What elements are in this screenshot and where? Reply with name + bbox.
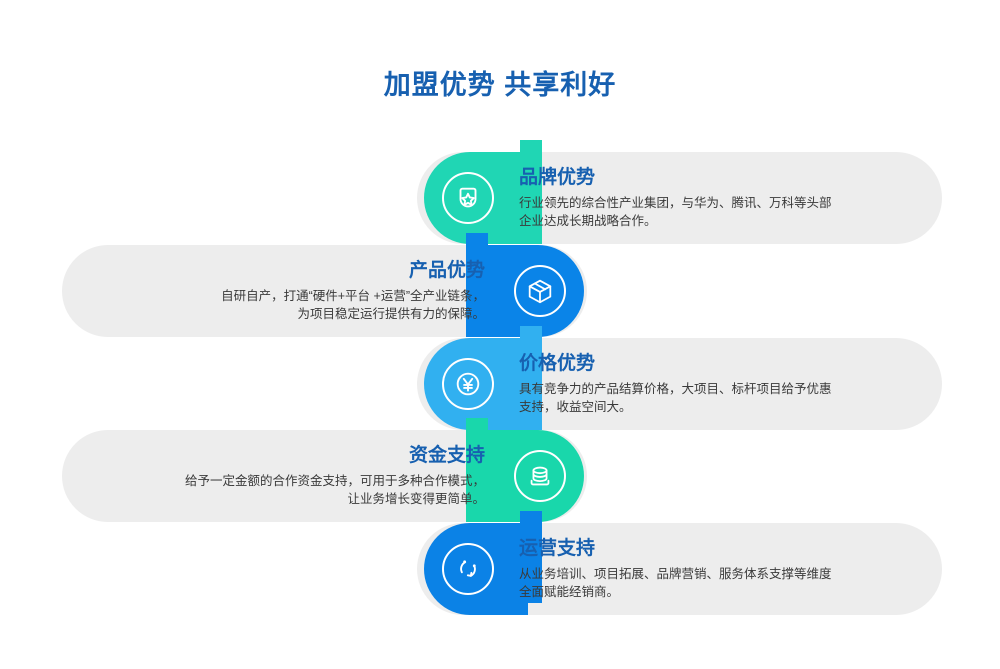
card-text-5: 运营支持 从业务培训、项目拓展、品牌营销、服务体系支撑等维度 全面赋能经销商。 (519, 523, 919, 615)
badge-star-icon (442, 172, 494, 224)
card-desc-5: 从业务培训、项目拓展、品牌营销、服务体系支撑等维度 全面赋能经销商。 (519, 565, 919, 602)
card-row-5: 运营支持 从业务培训、项目拓展、品牌营销、服务体系支撑等维度 全面赋能经销商。 (0, 523, 1000, 615)
page-title: 加盟优势 共享利好 (0, 63, 1000, 102)
card-text-1: 品牌优势 行业领先的综合性产业集团，与华为、腾讯、万科等头部 企业达成长期战略合… (519, 152, 919, 244)
card-desc-3: 具有竞争力的产品结算价格，大项目、标杆项目给予优惠 支持，收益空间大。 (519, 380, 919, 417)
card-title-1: 品牌优势 (519, 165, 919, 191)
card-row-4: 资金支持 给予一定金额的合作资金支持，可用于多种合作模式， 让业务增长变得更简单… (0, 430, 1000, 522)
coin-stack-icon (514, 450, 566, 502)
box-cube-icon (514, 265, 566, 317)
card-text-4: 资金支持 给予一定金额的合作资金支持，可用于多种合作模式， 让业务增长变得更简单… (85, 430, 485, 522)
card-text-2: 产品优势 自研自产，打通“硬件+平台 +运营”全产业链条， 为项目稳定运行提供有… (85, 245, 485, 337)
card-row-1: 品牌优势 行业领先的综合性产业集团，与华为、腾讯、万科等头部 企业达成长期战略合… (0, 152, 1000, 244)
card-title-2: 产品优势 (85, 258, 485, 284)
card-text-3: 价格优势 具有竞争力的产品结算价格，大项目、标杆项目给予优惠 支持，收益空间大。 (519, 338, 919, 430)
yuan-coin-icon (442, 358, 494, 410)
sync-refresh-icon (442, 543, 494, 595)
card-title-4: 资金支持 (85, 443, 485, 469)
card-row-2: 产品优势 自研自产，打通“硬件+平台 +运营”全产业链条， 为项目稳定运行提供有… (0, 245, 1000, 337)
card-desc-2: 自研自产，打通“硬件+平台 +运营”全产业链条， 为项目稳定运行提供有力的保障。 (85, 287, 485, 324)
card-title-5: 运营支持 (519, 536, 919, 562)
card-title-3: 价格优势 (519, 351, 919, 377)
infographic-canvas: 加盟优势 共享利好 品牌优势 行业领先的综合性产业集团，与华为、腾讯、万科等头部… (0, 0, 1000, 669)
card-row-3: 价格优势 具有竞争力的产品结算价格，大项目、标杆项目给予优惠 支持，收益空间大。 (0, 338, 1000, 430)
card-desc-4: 给予一定金额的合作资金支持，可用于多种合作模式， 让业务增长变得更简单。 (85, 472, 485, 509)
card-desc-1: 行业领先的综合性产业集团，与华为、腾讯、万科等头部 企业达成长期战略合作。 (519, 194, 919, 231)
